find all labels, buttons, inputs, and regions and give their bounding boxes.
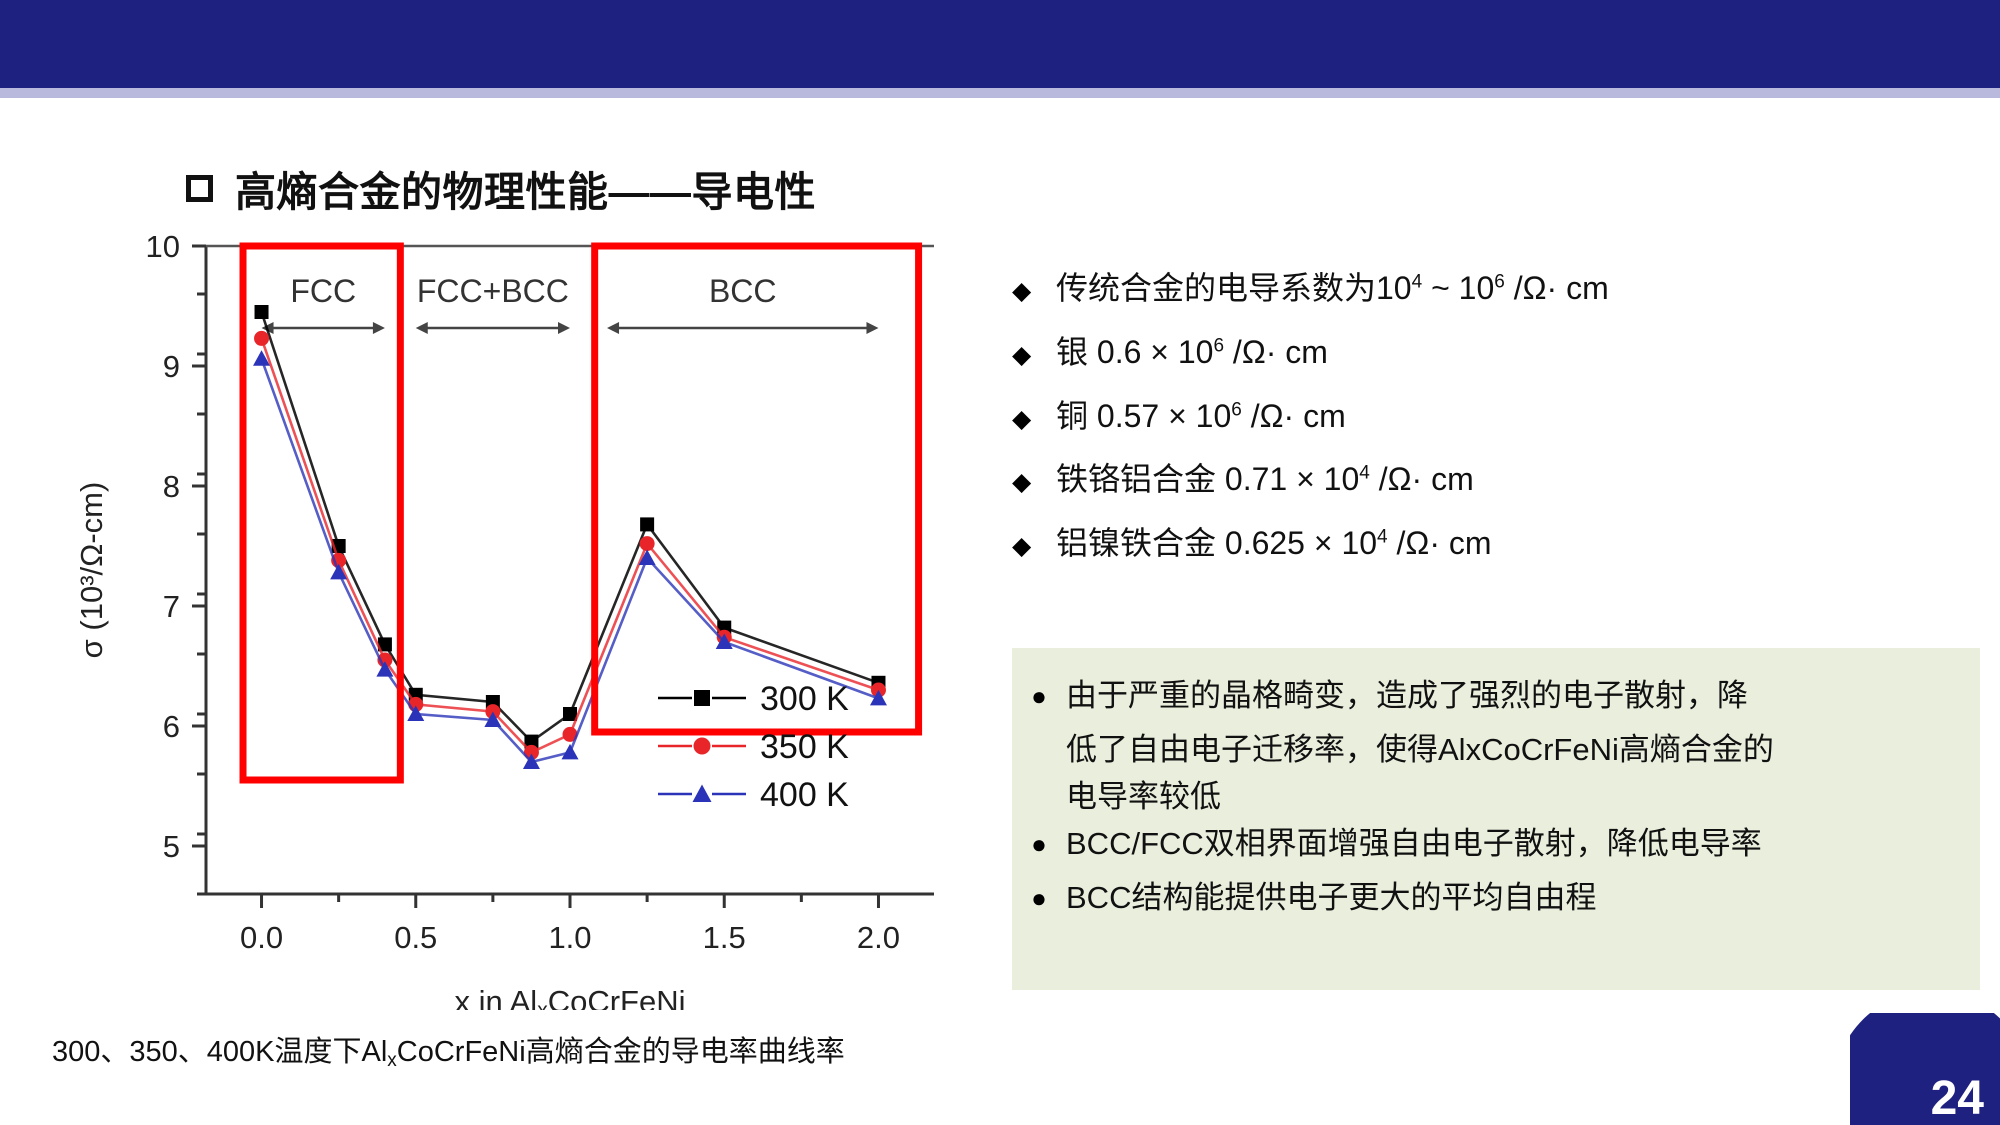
- phase-arrow-head-right: [558, 322, 570, 334]
- bullet-text: 银 0.6 × 106 /Ω· cm: [1056, 334, 1328, 371]
- bullet-sup-1: 4: [1377, 527, 1388, 548]
- x-tick-label: 0.0: [240, 920, 283, 955]
- bullet-post: /Ω· cm: [1370, 461, 1474, 497]
- caption-pre: 300、350、400K温度下Al: [52, 1036, 387, 1068]
- list-item: ◆ 铝镍铁合金 0.625 × 104 /Ω· cm: [1012, 525, 1972, 562]
- bullet-text: 铝镍铁合金 0.625 × 104 /Ω· cm: [1056, 525, 1492, 562]
- bullet-text: 铁铬铝合金 0.71 × 104 /Ω· cm: [1056, 461, 1474, 498]
- chart-caption: 300、350、400K温度下AlxCoCrFeNi高熵合金的导电率曲线率: [52, 1028, 845, 1072]
- data-point-300k: [640, 517, 654, 531]
- conclusion-line-1: 由于严重的晶格畸变，造成了强烈的电子散射，降: [1066, 678, 1748, 713]
- phase-arrow-head-right: [866, 322, 878, 334]
- bullet-pre: 银 0.6 × 10: [1056, 334, 1213, 370]
- bullet-mid: ~ 10: [1422, 270, 1494, 306]
- caption-post: CoCrFeNi高熵合金的导电率曲线率: [397, 1036, 845, 1068]
- phase-arrow-head-left: [416, 322, 428, 334]
- diamond-bullet-icon: ◆: [1012, 407, 1056, 432]
- bullet-list: ◆ 传统合金的电导系数为104 ~ 106 /Ω· cm ◆ 银 0.6 × 1…: [1012, 270, 1972, 589]
- bullet-sup-1: 4: [1359, 463, 1370, 484]
- y-tick-label: 7: [163, 589, 180, 624]
- diamond-bullet-icon: ◆: [1012, 279, 1056, 304]
- data-point-400k: [562, 744, 579, 760]
- bullet-sup-1: 4: [1412, 271, 1423, 292]
- conclusion-panel: ● 由于严重的晶格畸变，造成了强烈的电子散射，降 低了自由电子迁移率，使得Alx…: [1012, 648, 1980, 990]
- phase-region-label: FCC: [290, 273, 356, 309]
- x-tick-label: 1.0: [548, 920, 591, 955]
- bullet-post: /Ω· cm: [1505, 270, 1609, 306]
- legend-label: 300 K: [760, 680, 849, 718]
- dot-bullet-icon: ●: [1012, 672, 1066, 720]
- list-item: ◆ 铜 0.57 × 106 /Ω· cm: [1012, 398, 1972, 435]
- conclusion-item: ● 由于严重的晶格畸变，造成了强烈的电子散射，降: [1012, 672, 1962, 720]
- series-line-300K: [262, 312, 879, 742]
- phase-arrow-head-right: [373, 322, 385, 334]
- page-number-corner: 24: [1850, 1013, 2000, 1125]
- page-title: 高熵合金的物理性能——导电性: [186, 158, 816, 218]
- list-item: ◆ 传统合金的电导系数为104 ~ 106 /Ω· cm: [1012, 270, 1972, 307]
- dot-bullet-icon: ●: [1012, 820, 1066, 868]
- conclusion-line-2-post: CoCrFeNi高熵合金的: [1481, 732, 1774, 767]
- bullet-sup-1: 6: [1231, 399, 1242, 420]
- phase-arrow-head-left: [607, 322, 619, 334]
- bullet-text: 传统合金的电导系数为104 ~ 106 /Ω· cm: [1056, 270, 1609, 307]
- header-band: [0, 0, 2000, 88]
- conclusion-continuation: 电导率较低: [1012, 773, 1962, 820]
- legend-marker-square: [694, 690, 710, 706]
- phase-region-label: BCC: [709, 273, 777, 309]
- conclusion-item: ● BCC结构能提供电子更大的平均自由程: [1012, 874, 1962, 922]
- header-accent-line: [0, 88, 2000, 98]
- x-tick-label: 1.5: [703, 920, 746, 955]
- legend-marker-triangle: [693, 785, 712, 803]
- data-point-350k: [254, 331, 269, 346]
- conductivity-chart: 56789100.00.51.01.52.0σ (10³/Ω-cm)x in A…: [58, 228, 958, 1010]
- y-tick-label: 5: [163, 829, 180, 864]
- phase-region-label: FCC+BCC: [417, 273, 569, 309]
- bullet-post: /Ω· cm: [1242, 398, 1346, 434]
- list-item: ◆ 银 0.6 × 106 /Ω· cm: [1012, 334, 1972, 371]
- x-tick-label: 0.5: [394, 920, 437, 955]
- bullet-post: /Ω· cm: [1224, 334, 1328, 370]
- dot-bullet-icon: ●: [1012, 874, 1066, 922]
- y-axis-label: σ (10³/Ω-cm): [74, 482, 109, 659]
- y-tick-label: 6: [163, 709, 180, 744]
- bullet-pre: 铝镍铁合金 0.625 × 10: [1056, 525, 1377, 561]
- legend-label: 350 K: [760, 728, 849, 766]
- bullet-sup-1: 6: [1213, 335, 1224, 356]
- list-item: ◆ 铁铬铝合金 0.71 × 104 /Ω· cm: [1012, 461, 1972, 498]
- caption-subscript: x: [387, 1050, 397, 1071]
- conclusion-text: 由于严重的晶格畸变，造成了强烈的电子散射，降: [1066, 672, 1748, 719]
- conclusion-text: BCC/FCC双相界面增强自由电子散射，降低电导率: [1066, 820, 1762, 867]
- conclusion-line-2-subscript: x: [1466, 732, 1482, 767]
- diamond-bullet-icon: ◆: [1012, 470, 1056, 495]
- legend-marker-circle: [694, 738, 711, 755]
- diamond-bullet-icon: ◆: [1012, 534, 1056, 559]
- page-number: 24: [1931, 1075, 1984, 1123]
- bullet-pre: 铜 0.57 × 10: [1056, 398, 1231, 434]
- highlight-box-bcc: [595, 246, 919, 732]
- data-point-350k: [640, 536, 655, 551]
- square-bullet-icon: [186, 175, 213, 202]
- diamond-bullet-icon: ◆: [1012, 343, 1056, 368]
- y-tick-label: 10: [146, 229, 180, 264]
- conclusion-line-2-pre: 低了自由电子迁移率，使得Al: [1066, 732, 1466, 767]
- bullet-pre: 传统合金的电导系数为10: [1056, 270, 1412, 306]
- bullet-sup-2: 6: [1494, 271, 1505, 292]
- x-tick-label: 2.0: [857, 920, 900, 955]
- conclusion-text: BCC结构能提供电子更大的平均自由程: [1066, 874, 1596, 921]
- y-tick-label: 8: [163, 469, 180, 504]
- bullet-text: 铜 0.57 × 106 /Ω· cm: [1056, 398, 1346, 435]
- conclusion-continuation: 低了自由电子迁移率，使得AlxCoCrFeNi高熵合金的: [1012, 726, 1962, 773]
- y-tick-label: 9: [163, 349, 180, 384]
- conclusion-line-3: 电导率较低: [1066, 779, 1221, 814]
- data-point-300k: [255, 305, 269, 319]
- chart-svg: 56789100.00.51.01.52.0σ (10³/Ω-cm)x in A…: [58, 228, 958, 1010]
- legend-label: 400 K: [760, 776, 849, 814]
- bullet-post: /Ω· cm: [1388, 525, 1492, 561]
- bullet-pre: 铁铬铝合金 0.71 × 10: [1056, 461, 1359, 497]
- page-title-text: 高熵合金的物理性能——导电性: [235, 158, 816, 218]
- conclusion-item: ● BCC/FCC双相界面增强自由电子散射，降低电导率: [1012, 820, 1962, 868]
- slide-root: 高熵合金的物理性能——导电性 56789100.00.51.01.52.0σ (…: [0, 0, 2000, 1125]
- x-axis-label: x in AlxCoCrFeNi: [454, 984, 685, 1010]
